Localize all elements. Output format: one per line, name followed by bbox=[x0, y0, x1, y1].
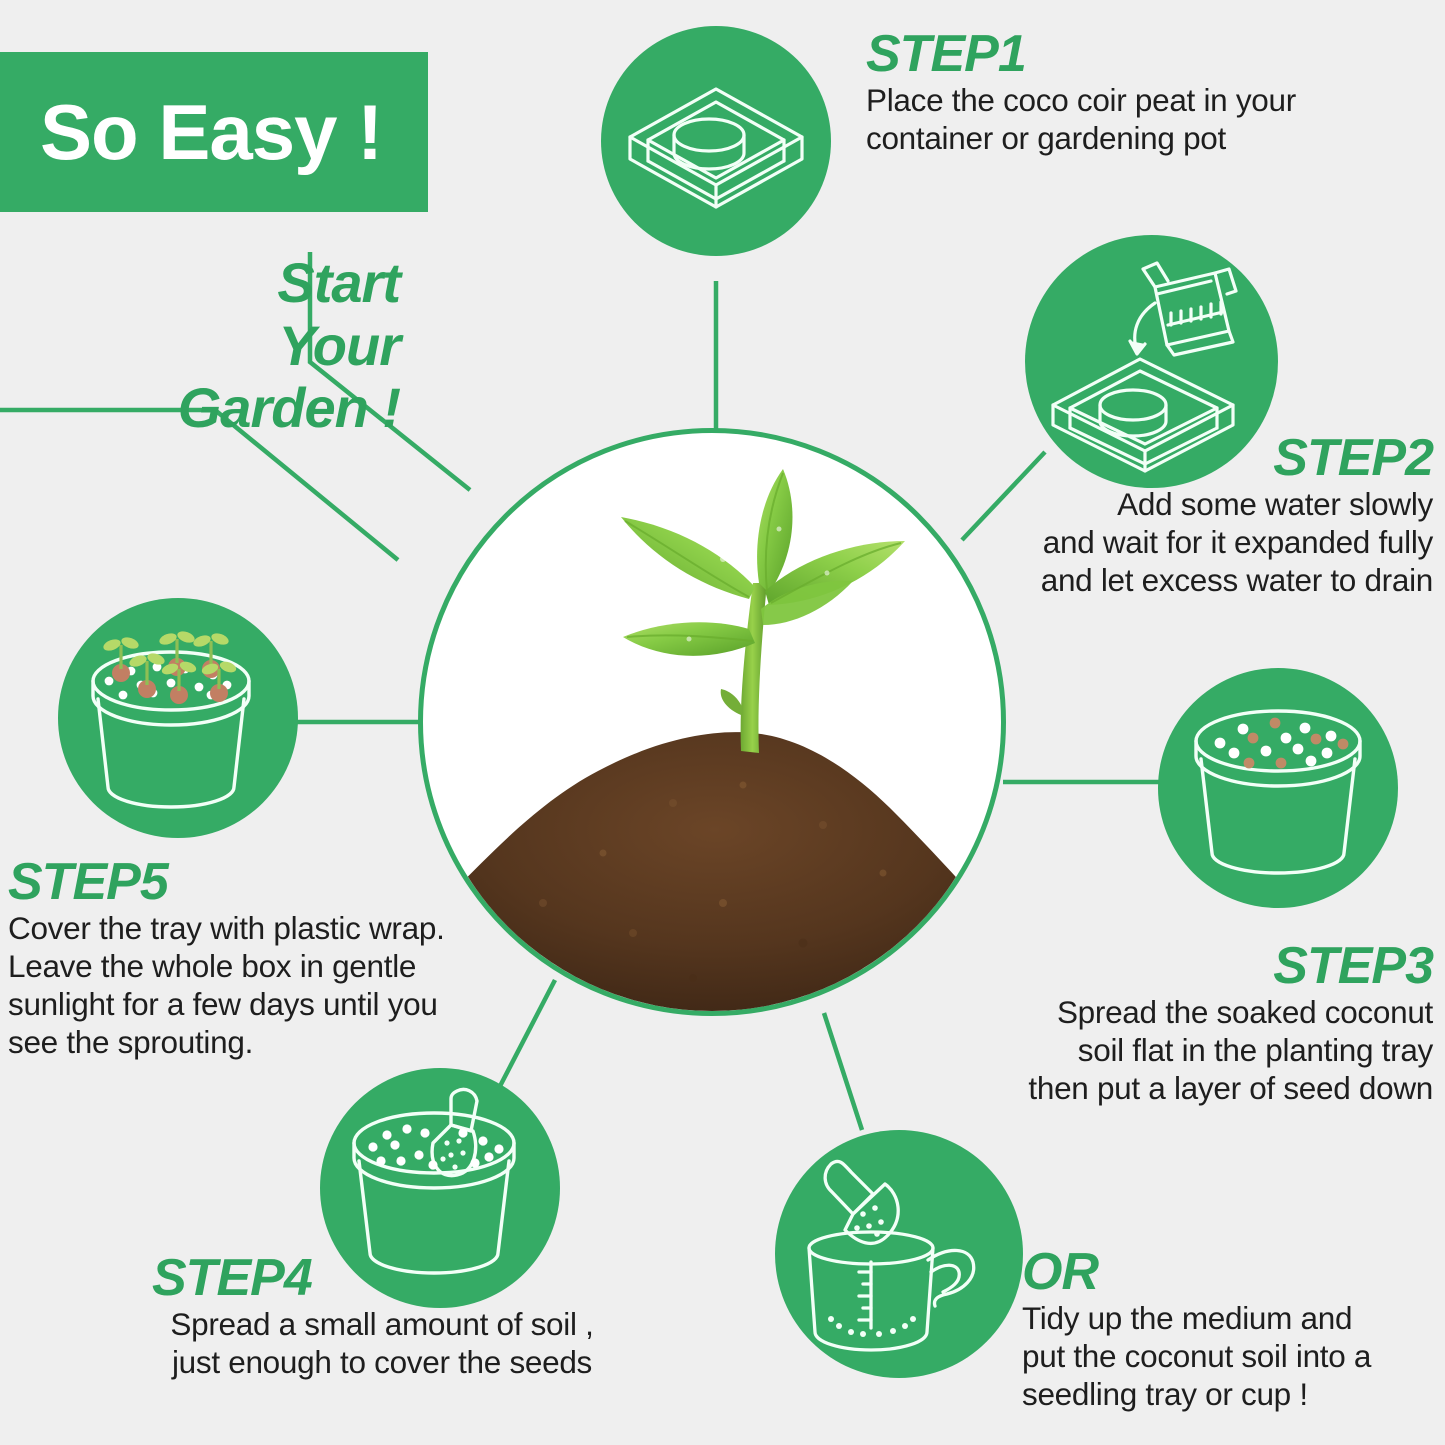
step3-text: STEP3 Spread the soaked coconut soil fla… bbox=[1000, 940, 1433, 1107]
step1-text: STEP1 Place the coco coir peat in your c… bbox=[866, 28, 1336, 157]
seed-dots bbox=[1214, 717, 1348, 768]
banner-title: So Easy ! bbox=[0, 93, 382, 171]
subheading-line-1: Start bbox=[0, 252, 400, 315]
step5-label: STEP5 bbox=[8, 856, 478, 909]
step1-body: Place the coco coir peat in your contain… bbox=[866, 81, 1336, 157]
step-or-label: OR bbox=[1022, 1246, 1422, 1299]
step1-label: STEP1 bbox=[866, 28, 1336, 81]
step4-body: Spread a small amount of soil , just eno… bbox=[152, 1305, 612, 1381]
step2-body: Add some water slowly and wait for it ex… bbox=[955, 485, 1433, 599]
banner: So Easy ! bbox=[0, 52, 428, 212]
step4-label: STEP4 bbox=[152, 1252, 612, 1305]
step3-label: STEP3 bbox=[1000, 940, 1433, 993]
step2-text: STEP2 Add some water slowly and wait for… bbox=[955, 432, 1433, 599]
hero-circle bbox=[418, 428, 1006, 1016]
step-or-text: OR Tidy up the medium and put the coconu… bbox=[1022, 1246, 1422, 1413]
step5-body: Cover the tray with plastic wrap. Leave … bbox=[8, 909, 478, 1061]
seedling-in-soil-photo bbox=[423, 433, 1001, 1011]
pot-with-sprouts-icon bbox=[71, 611, 286, 826]
line-hero-or bbox=[824, 1013, 862, 1130]
step3-body: Spread the soaked coconut soil flat in t… bbox=[1000, 993, 1433, 1107]
trowel-pouring-into-measuring-cup-icon bbox=[787, 1142, 1012, 1367]
step5-text: STEP5 Cover the tray with plastic wrap. … bbox=[8, 856, 478, 1061]
pot-with-seeds-icon bbox=[1171, 681, 1386, 896]
soil-dots bbox=[368, 1124, 503, 1169]
step5-icon-bubble bbox=[58, 598, 298, 838]
tray-with-coir-disc-icon bbox=[616, 41, 816, 241]
step-or-body: Tidy up the medium and put the coconut s… bbox=[1022, 1299, 1422, 1413]
infographic-canvas: So Easy ! Start Your Garden ! bbox=[0, 0, 1445, 1445]
step3-icon-bubble bbox=[1158, 668, 1398, 908]
step1-icon-bubble bbox=[601, 26, 831, 256]
subheading: Start Your Garden ! bbox=[0, 252, 400, 440]
step4-text: STEP4 Spread a small amount of soil , ju… bbox=[152, 1252, 612, 1381]
or-icon-bubble bbox=[775, 1130, 1023, 1378]
subheading-line-2: Your bbox=[0, 315, 400, 378]
step2-label: STEP2 bbox=[955, 432, 1433, 485]
subheading-line-3: Garden ! bbox=[0, 377, 400, 440]
